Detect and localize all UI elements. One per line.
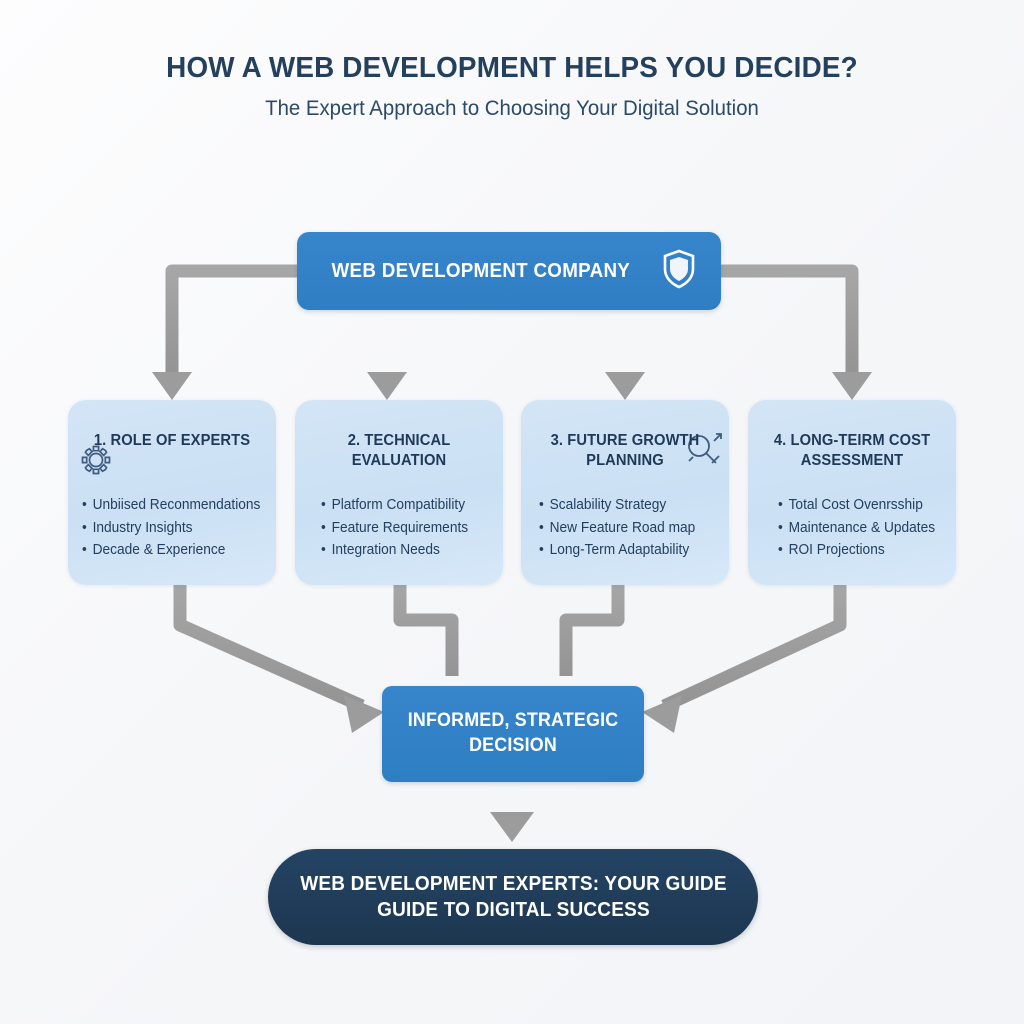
card-bullet-list: Scalability Strategy New Feature Road ma… [521,494,729,562]
page-subtitle: The Expert Approach to Choosing Your Dig… [15,97,1008,121]
list-item: Unbiised Reconmendations [82,494,268,517]
arrowhead-card-4 [832,372,872,400]
top-node-label: WEB DEVELOPMENT COMPANY [332,260,631,283]
card-title: 2. TECHNICAL EVALUATION [300,431,498,470]
connector-card-3-to-decision [566,585,618,676]
connector-top-to-card-1 [172,271,297,372]
decision-node-label: INFORMED, STRATEGIC DECISION [408,709,619,758]
diagram-canvas: HOW A WEB DEVELOPMENT HELPS YOU DECIDE? … [0,0,1024,1024]
list-item: Feature Requirements [321,517,496,540]
conclusion-node[interactable]: WEB DEVELOPMENT EXPERTS: YOUR GUIDE GUID… [268,849,758,945]
card-role-of-experts[interactable]: 1. ROLE OF EXPERTS Unbiised Reconmendati… [68,400,276,585]
card-technical-evaluation[interactable]: 2. TECHNICAL EVALUATION Platform Compati… [295,400,503,585]
arrowhead-card-2 [367,372,407,400]
arrowhead-decision-left [344,695,384,733]
arrowhead-card-3 [605,372,645,400]
list-item: Decade & Experience [82,539,268,562]
list-item: Platform Compatibility [321,494,496,517]
connector-card-2-to-decision [400,585,452,676]
list-item: Maintenance & Updates [778,517,949,540]
decision-node[interactable]: INFORMED, STRATEGIC DECISION [382,686,644,782]
card-title: 3. FUTURE GROWTH PLANNING [526,431,724,470]
arrowhead-pill [490,812,534,842]
arrowhead-card-1 [152,372,192,400]
card-bullet-list: Unbiised Reconmendations Industry Insigh… [68,494,276,562]
list-item: Industry Insights [82,517,268,540]
arrowhead-decision-right [642,695,682,733]
card-title: 1. ROLE OF EXPERTS [73,431,271,451]
connector-card-1-to-decision [180,585,362,706]
list-item: Scalability Strategy [539,494,721,517]
connector-card-4-to-decision [664,585,840,706]
card-bullet-list: Total Cost Ovenrsship Maintenance & Upda… [748,494,956,562]
list-item: ROI Projections [778,539,949,562]
shield-icon [662,249,696,294]
list-item: Total Cost Ovenrsship [778,494,949,517]
card-title: 4. LONG-TEIRM COST ASSESSMENT [753,431,951,470]
list-item: New Feature Road map [539,517,721,540]
connector-top-to-card-4 [721,271,852,372]
list-item: Integration Needs [321,539,496,562]
card-bullet-list: Platform Compatibility Feature Requireme… [295,494,503,562]
header: HOW A WEB DEVELOPMENT HELPS YOU DECIDE? … [0,52,1024,121]
conclusion-node-label: WEB DEVELOPMENT EXPERTS: YOUR GUIDE GUID… [300,871,726,924]
top-node-web-development-company[interactable]: WEB DEVELOPMENT COMPANY [297,232,721,310]
card-long-term-cost-assessment[interactable]: 4. LONG-TEIRM COST ASSESSMENT Total Cost… [748,400,956,585]
card-future-growth-planning[interactable]: 3. FUTURE GROWTH PLANNING Scalability St… [521,400,729,585]
page-title: HOW A WEB DEVELOPMENT HELPS YOU DECIDE? [20,52,1003,85]
list-item: Long-Term Adaptability [539,539,721,562]
